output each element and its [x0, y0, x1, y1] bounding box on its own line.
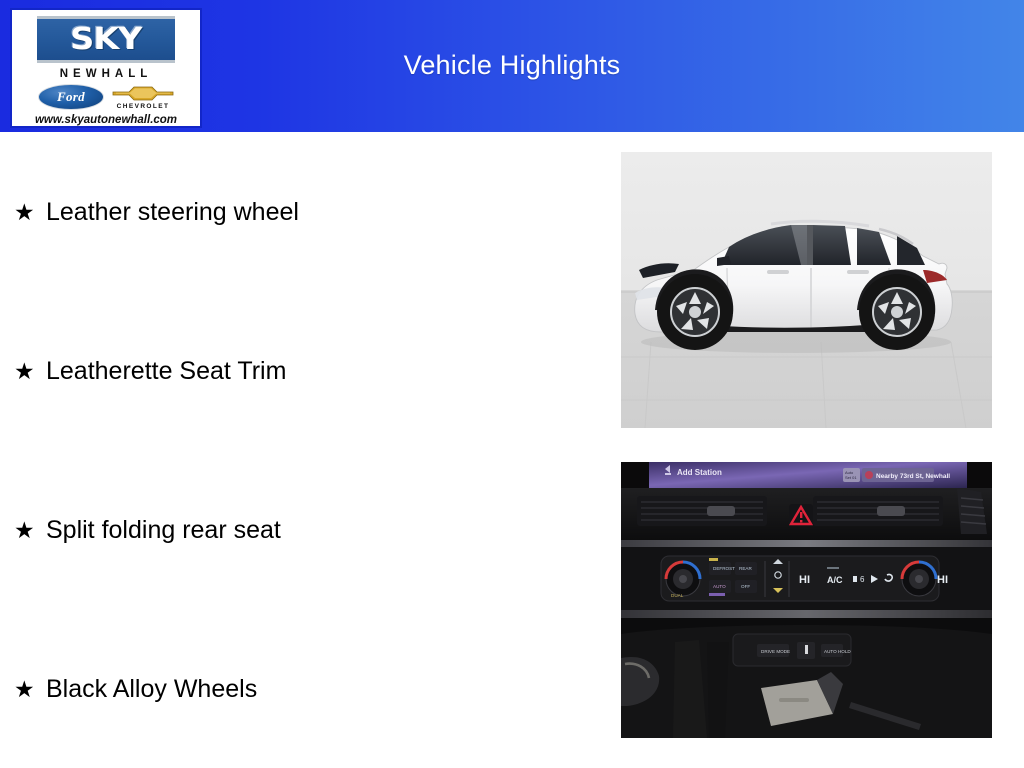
list-item: ★ Leatherette Seat Trim [14, 357, 286, 386]
chevrolet-logo-text: CHEVROLET [117, 103, 170, 110]
svg-text:Set 01: Set 01 [845, 475, 857, 480]
center-stack-illustration: Add Station Auto Set 01 Nearby 73rd St, … [621, 462, 992, 738]
svg-text:OFF: OFF [741, 584, 750, 589]
svg-text:AUTO: AUTO [713, 584, 726, 589]
vehicle-exterior-photo[interactable] [621, 152, 992, 428]
ford-logo-icon: Ford [38, 84, 104, 110]
svg-text:HI: HI [937, 574, 948, 586]
oem-brand-row: Ford CHEVROLET [38, 84, 174, 110]
svg-text:DEFROST: DEFROST [713, 566, 735, 571]
dealer-logo[interactable]: SKY NEWHALL Ford CHEVROLET www.skyautone… [10, 8, 202, 128]
hazard-warning-button [789, 504, 813, 526]
list-item: ★ Split folding rear seat [14, 516, 281, 545]
vehicle-interior-photo[interactable]: Add Station Auto Set 01 Nearby 73rd St, … [621, 462, 992, 738]
dealer-location-text: NEWHALL [60, 68, 153, 80]
feature-label: Leatherette Seat Trim [46, 357, 286, 386]
list-item: ★ Leather steering wheel [14, 198, 299, 227]
slide-root: Vehicle Highlights SKY NEWHALL Ford CHEV… [0, 0, 1024, 768]
chevrolet-logo-group: CHEVROLET [112, 84, 174, 110]
svg-text:HI: HI [799, 574, 810, 586]
svg-text:Nearby 73rd St, Newhall: Nearby 73rd St, Newhall [876, 473, 950, 480]
svg-text:A/C: A/C [827, 575, 843, 585]
star-bullet-icon: ★ [14, 679, 46, 702]
svg-text:DRIVE MODE: DRIVE MODE [761, 649, 790, 654]
star-bullet-icon: ★ [14, 202, 46, 225]
star-bullet-icon: ★ [14, 361, 46, 384]
vehicle-exterior-illustration [621, 152, 992, 428]
list-item: ★ Black Alloy Wheels [14, 675, 257, 704]
feature-label: Black Alloy Wheels [46, 675, 257, 704]
ford-logo-text: Ford [57, 89, 85, 105]
sky-brand-text: SKY [70, 22, 141, 57]
chevrolet-bowtie-icon [112, 84, 174, 102]
svg-text:6: 6 [860, 575, 865, 584]
feature-label: Split folding rear seat [46, 516, 281, 545]
passenger-temp-knob [902, 562, 936, 596]
feature-label: Leather steering wheel [46, 198, 299, 227]
svg-text:AUTO HOLD: AUTO HOLD [824, 649, 851, 654]
star-bullet-icon: ★ [14, 520, 46, 543]
svg-text:DUAL: DUAL [671, 593, 684, 598]
sky-brand-plate: SKY [37, 16, 175, 63]
svg-text:REAR: REAR [739, 566, 752, 571]
vehicle-feature-list: ★ Leather steering wheel ★ Leatherette S… [0, 132, 600, 768]
svg-text:Add Station: Add Station [677, 468, 722, 477]
dealer-website-text: www.skyautonewhall.com [35, 114, 177, 126]
